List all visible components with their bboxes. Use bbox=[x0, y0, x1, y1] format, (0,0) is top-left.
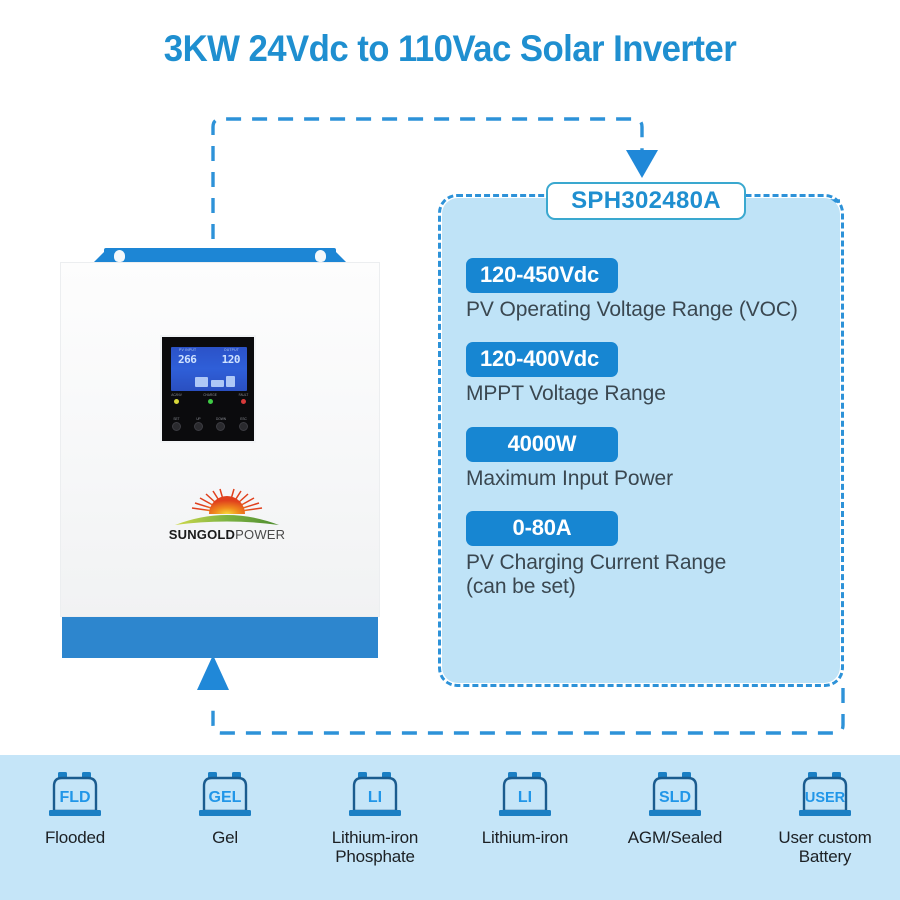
led-label: FAULT bbox=[239, 393, 249, 397]
button-set[interactable]: SET bbox=[172, 417, 181, 431]
battery-type-label: AGM/Sealed bbox=[628, 828, 722, 847]
led-acinv: AC/INV bbox=[174, 399, 179, 404]
button-label: ESC bbox=[240, 417, 247, 421]
inverter-body: PV INPUT OUTPUT 266 120 AC/INV CHARGE bbox=[60, 262, 380, 617]
brand-bold: SUNGOLD bbox=[169, 527, 235, 542]
lcd-right-caption: OUTPUT bbox=[224, 348, 239, 352]
battery-li-icon: LI bbox=[344, 769, 406, 821]
spec-label: PV Operating Voltage Range (VOC) bbox=[466, 298, 846, 322]
spec-item-max-input-power: 4000W Maximum Input Power bbox=[466, 427, 846, 491]
lcd-display: PV INPUT OUTPUT 266 120 bbox=[171, 347, 247, 391]
led-dot bbox=[241, 399, 246, 404]
battery-type-label: Lithium-iron Phosphate bbox=[300, 828, 450, 866]
button-dot bbox=[239, 422, 248, 431]
svg-text:USER: USER bbox=[805, 790, 846, 806]
battery-type-lifepo4: LI Lithium-iron Phosphate bbox=[300, 769, 450, 866]
lcd-left-caption: PV INPUT bbox=[179, 348, 196, 352]
model-number-badge: SPH302480A bbox=[546, 182, 746, 220]
battery-type-label: Flooded bbox=[45, 828, 105, 847]
button-dot bbox=[194, 422, 203, 431]
spec-label: PV Charging Current Range (can be set) bbox=[466, 551, 846, 600]
battery-type-user-custom: USER User custom Battery bbox=[750, 769, 900, 866]
led-dot bbox=[208, 399, 213, 404]
battery-types-band: FLD Flooded GEL Gel bbox=[0, 755, 900, 900]
button-label: UP bbox=[196, 417, 200, 421]
lcd-solar-icon bbox=[195, 377, 208, 387]
button-esc[interactable]: ESC bbox=[239, 417, 248, 431]
battery-type-label: User custom Battery bbox=[750, 828, 900, 866]
svg-text:LI: LI bbox=[368, 789, 382, 806]
brand-logo: SUNGOLDPOWER bbox=[167, 485, 287, 542]
battery-type-label: Gel bbox=[212, 828, 238, 847]
led-label: AC/INV bbox=[171, 393, 182, 397]
spec-value-badge: 4000W bbox=[466, 427, 618, 462]
arrow-up-icon bbox=[197, 655, 229, 690]
spec-item-pv-voltage: 120-450Vdc PV Operating Voltage Range (V… bbox=[466, 258, 846, 322]
control-panel: PV INPUT OUTPUT 266 120 AC/INV CHARGE bbox=[160, 335, 256, 443]
battery-type-gel: GEL Gel bbox=[150, 769, 300, 847]
led-fault: FAULT bbox=[241, 399, 246, 404]
battery-types-row: FLD Flooded GEL Gel bbox=[0, 769, 900, 899]
battery-type-agm-sealed: SLD AGM/Sealed bbox=[600, 769, 750, 847]
infographic-root: 3KW 24Vdc to 110Vac Solar Inverter PV IN… bbox=[0, 0, 900, 900]
led-indicator-row: AC/INV CHARGE FAULT bbox=[174, 399, 246, 404]
button-dot bbox=[172, 422, 181, 431]
lcd-left-value: 266 bbox=[178, 353, 196, 366]
spec-value-badge: 0-80A bbox=[466, 511, 618, 546]
spec-label: MPPT Voltage Range bbox=[466, 382, 846, 406]
battery-gel-icon: GEL bbox=[194, 769, 256, 821]
lcd-load-icon bbox=[226, 376, 235, 387]
button-row: SET UP DOWN ESC bbox=[172, 417, 248, 431]
brand-wordmark: SUNGOLDPOWER bbox=[167, 527, 287, 542]
inverter-product-image: PV INPUT OUTPUT 266 120 AC/INV CHARGE bbox=[60, 248, 380, 658]
brand-light: POWER bbox=[235, 527, 285, 542]
battery-li-icon: LI bbox=[494, 769, 556, 821]
led-dot bbox=[174, 399, 179, 404]
battery-type-flooded: FLD Flooded bbox=[0, 769, 150, 847]
spec-list: 120-450Vdc PV Operating Voltage Range (V… bbox=[466, 258, 846, 620]
battery-type-label: Lithium-iron bbox=[482, 828, 568, 847]
spec-value-badge: 120-400Vdc bbox=[466, 342, 618, 377]
svg-text:SLD: SLD bbox=[659, 789, 691, 806]
button-label: DOWN bbox=[216, 417, 226, 421]
inverter-base-band bbox=[62, 617, 378, 658]
sunrise-logo-icon bbox=[167, 485, 287, 527]
spec-item-mppt-voltage: 120-400Vdc MPPT Voltage Range bbox=[466, 342, 846, 406]
arrow-down-icon bbox=[626, 150, 658, 178]
button-label: SET bbox=[173, 417, 179, 421]
button-up[interactable]: UP bbox=[194, 417, 203, 431]
button-down[interactable]: DOWN bbox=[216, 417, 226, 431]
led-charge: CHARGE bbox=[208, 399, 213, 404]
led-label: CHARGE bbox=[203, 393, 217, 397]
spec-item-pv-charging-current: 0-80A PV Charging Current Range (can be … bbox=[466, 511, 846, 600]
connector-path-bottom bbox=[213, 688, 843, 733]
battery-sld-icon: SLD bbox=[644, 769, 706, 821]
lcd-right-value: 120 bbox=[222, 353, 240, 366]
spec-label: Maximum Input Power bbox=[466, 467, 846, 491]
spec-value-badge: 120-450Vdc bbox=[466, 258, 618, 293]
page-title: 3KW 24Vdc to 110Vac Solar Inverter bbox=[27, 28, 873, 70]
svg-text:LI: LI bbox=[518, 789, 532, 806]
lcd-battery-icon bbox=[211, 380, 224, 387]
battery-user-icon: USER bbox=[794, 769, 856, 821]
battery-fld-icon: FLD bbox=[44, 769, 106, 821]
svg-text:GEL: GEL bbox=[209, 789, 242, 806]
battery-type-lithium-iron: LI Lithium-iron bbox=[450, 769, 600, 847]
button-dot bbox=[216, 422, 225, 431]
battery-code: FLD bbox=[59, 789, 90, 806]
